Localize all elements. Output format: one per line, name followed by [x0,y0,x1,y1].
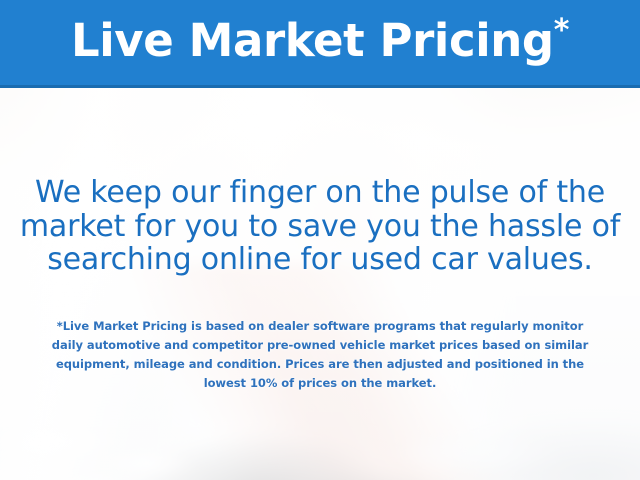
banner-title: Live Market Pricing* [71,18,569,67]
fine-print-line-2: daily automotive and competitor pre-owne… [0,336,640,355]
fine-print-line-4: lowest 10% of prices on the market. [0,374,640,393]
headline-line-1: We keep our finger on the pulse of the [0,176,640,210]
banner-title-text: Live Market Pricing [71,14,554,67]
headline-line-2: market for you to save you the hassle of [0,210,640,244]
fine-print-line-1: *Live Market Pricing is based on dealer … [0,317,640,336]
fine-print-line-3: equipment, mileage and condition. Prices… [0,355,640,374]
headline-line-3: searching online for used car values. [0,243,640,277]
live-market-pricing-promo-card: Live Market Pricing* We keep our finger … [0,0,640,480]
fine-print-disclaimer: *Live Market Pricing is based on dealer … [0,317,640,393]
banner-title-asterisk: * [554,13,569,48]
headline: We keep our finger on the pulse of the m… [0,176,640,277]
header-banner: Live Market Pricing* [0,0,640,88]
